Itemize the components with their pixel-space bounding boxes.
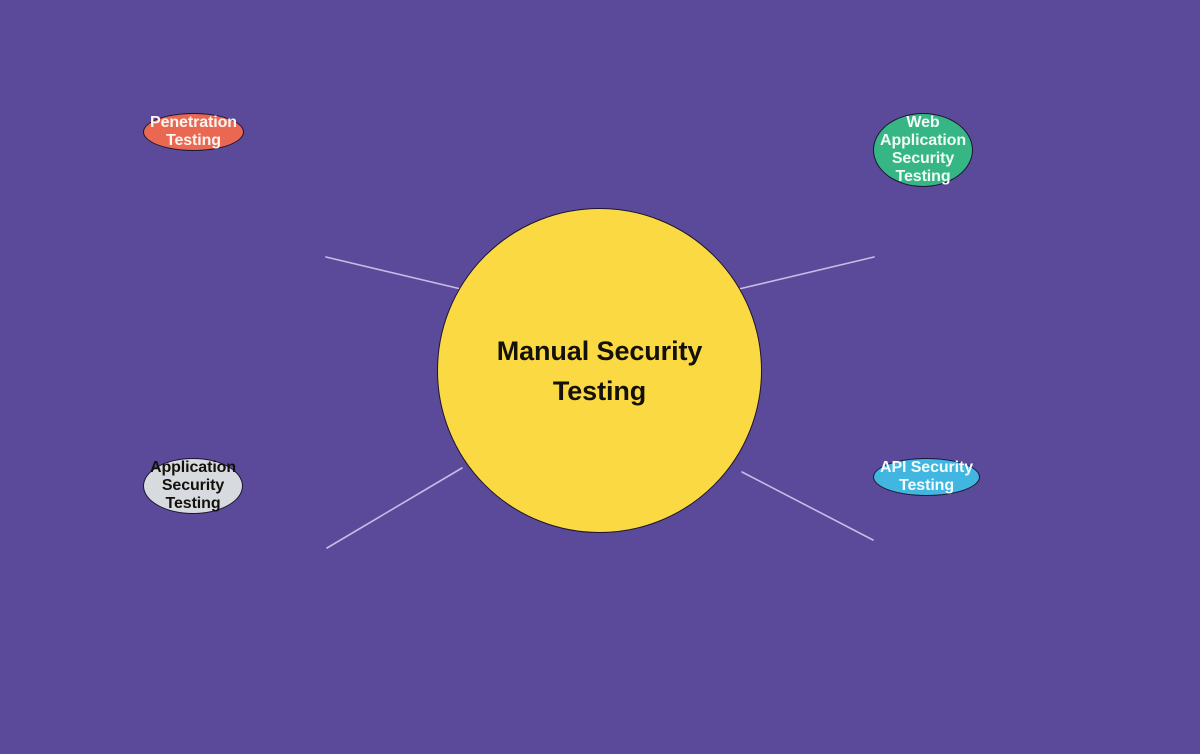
node-web-application-security-testing[interactable]: Web Application Security Testing [873, 113, 973, 187]
node-label-api-security-testing: API Security Testing [874, 459, 979, 495]
node-label-manual-security-testing: Manual Security Testing [491, 331, 709, 411]
node-label-application-security-testing: Application Security Testing [144, 459, 242, 513]
node-label-web-application-security-testing: Web Application Security Testing [874, 114, 972, 186]
node-label-penetration-testing: Penetration Testing [144, 114, 243, 150]
node-api-security-testing[interactable]: API Security Testing [873, 458, 980, 496]
connector-center-to-web-application-security-testing [739, 257, 874, 289]
diagram-canvas: Penetration Testing Web Application Secu… [0, 0, 1200, 754]
connector-center-to-application-security-testing [327, 468, 462, 548]
node-manual-security-testing[interactable]: Manual Security Testing [437, 208, 762, 533]
node-penetration-testing[interactable]: Penetration Testing [143, 113, 244, 151]
node-application-security-testing[interactable]: Application Security Testing [143, 458, 243, 514]
connector-center-to-penetration-testing [326, 257, 461, 289]
connector-center-to-api-security-testing [742, 472, 873, 540]
